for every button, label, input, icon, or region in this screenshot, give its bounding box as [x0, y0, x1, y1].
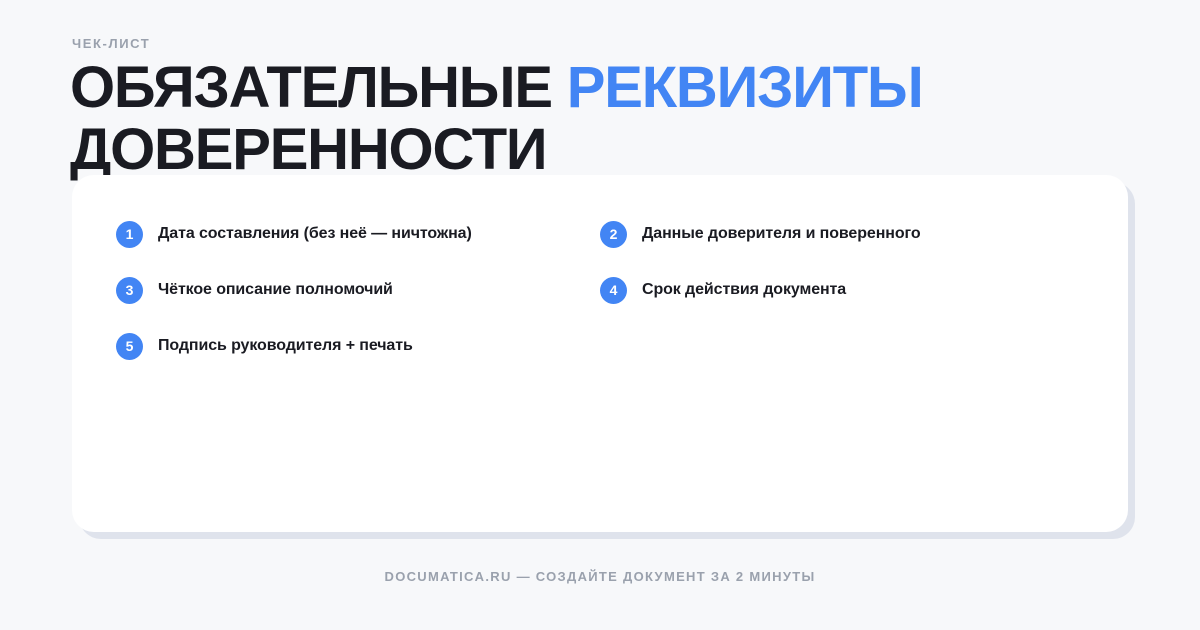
item-number-badge: 3 [116, 277, 143, 304]
list-item: 1Дата составления (без неё — ничтожна) [116, 206, 600, 262]
checklist-list: 1Дата составления (без неё — ничтожна)2Д… [72, 175, 1128, 532]
item-label: Чёткое описание полномочий [158, 280, 393, 300]
item-label: Дата составления (без неё — ничтожна) [158, 224, 472, 244]
item-label: Срок действия документа [642, 280, 846, 300]
item-label: Подпись руководителя + печать [158, 336, 413, 356]
checklist-card: 1Дата составления (без неё — ничтожна)2Д… [72, 175, 1128, 532]
page-title: ОБЯЗАТЕЛЬНЫЕ РЕКВИЗИТЫ ДОВЕРЕННОСТИ [70, 57, 1140, 181]
eyebrow-label: ЧЕК-ЛИСТ [72, 37, 150, 50]
title-accent-word: РЕКВИЗИТЫ [567, 55, 923, 120]
title-part-two: ДОВЕРЕННОСТИ [70, 117, 546, 182]
list-item: 3Чёткое описание полномочий [116, 262, 600, 318]
title-part-one: ОБЯЗАТЕЛЬНЫЕ [70, 55, 567, 120]
list-item: 2Данные доверителя и поверенного [600, 206, 1084, 262]
item-number-badge: 2 [600, 221, 627, 248]
footer-note: DOCUMATICA.RU — СОЗДАЙТЕ ДОКУМЕНТ ЗА 2 М… [0, 569, 1200, 585]
item-number-badge: 4 [600, 277, 627, 304]
list-item: 4Срок действия документа [600, 262, 1084, 318]
checklist-infographic: ЧЕК-ЛИСТ ОБЯЗАТЕЛЬНЫЕ РЕКВИЗИТЫ ДОВЕРЕНН… [0, 0, 1200, 630]
item-label: Данные доверителя и поверенного [642, 224, 921, 244]
list-item: 5Подпись руководителя + печать [116, 318, 600, 374]
item-number-badge: 1 [116, 221, 143, 248]
item-number-badge: 5 [116, 333, 143, 360]
